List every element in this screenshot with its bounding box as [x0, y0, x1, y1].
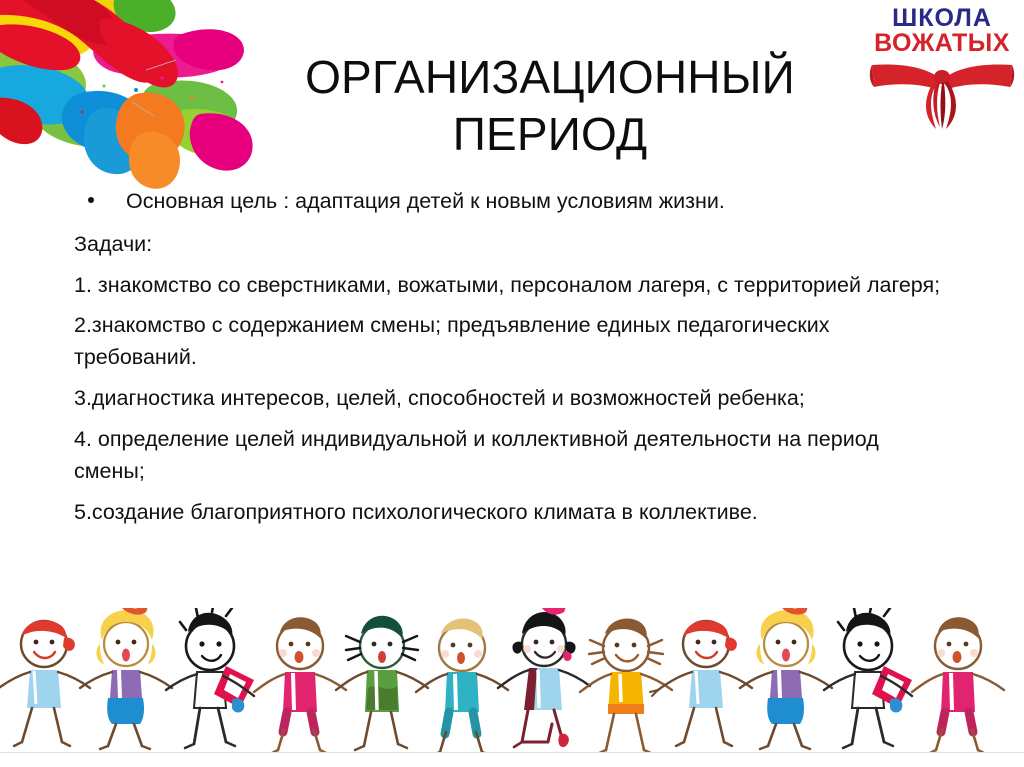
paint-splash-icon [0, 0, 256, 197]
tasks-heading: Задачи: [74, 229, 946, 261]
presentation-slide: ШКОЛА ВОЖАТЫХ ОРГАНИЗАЦИОННЫЙ [0, 0, 1024, 767]
task-item-2: 2.знакомство с содержанием смены; предъя… [74, 310, 946, 374]
pioneer-necktie-icon [866, 57, 1018, 131]
child-figure [498, 608, 590, 747]
slide-body: Основная цель : адаптация детей к новым … [74, 186, 946, 528]
children-holding-hands-icon [0, 608, 1024, 753]
logo-text-vozhatyh: ВОЖАТЫХ [866, 31, 1018, 57]
slide-title-line-1: ОРГАНИЗАЦИОННЫЙ [305, 51, 795, 103]
logo: ШКОЛА ВОЖАТЫХ [866, 6, 1018, 142]
child-figure [166, 608, 254, 748]
child-figure [580, 619, 672, 753]
task-item-1: 1. знакомство со сверстниками, вожатыми,… [74, 270, 946, 302]
child-figure [740, 608, 832, 749]
goal-bullet-text: Основная цель : адаптация детей к новым … [126, 189, 725, 213]
bullet-icon [88, 197, 94, 203]
child-figure [336, 616, 428, 750]
child-figure [80, 608, 172, 749]
child-figure [254, 617, 346, 753]
child-figure [650, 621, 752, 746]
task-item-5: 5.создание благоприятного психологическо… [74, 497, 946, 529]
logo-text-shkola: ШКОЛА [866, 6, 1018, 32]
slide-title: ОРГАНИЗАЦИОННЫЙ ПЕРИОД [250, 49, 850, 163]
task-item-3: 3.диагностика интересов, целей, способно… [74, 383, 946, 415]
bottom-divider [0, 752, 1024, 753]
child-figure [0, 621, 90, 746]
child-figure [416, 619, 508, 753]
goal-bullet-item: Основная цель : адаптация детей к новым … [74, 186, 946, 218]
task-item-4: 4. определение целей индивидуальной и ко… [74, 424, 946, 488]
child-figure [912, 617, 1004, 753]
slide-title-line-2: ПЕРИОД [453, 108, 648, 160]
child-figure [824, 608, 912, 748]
